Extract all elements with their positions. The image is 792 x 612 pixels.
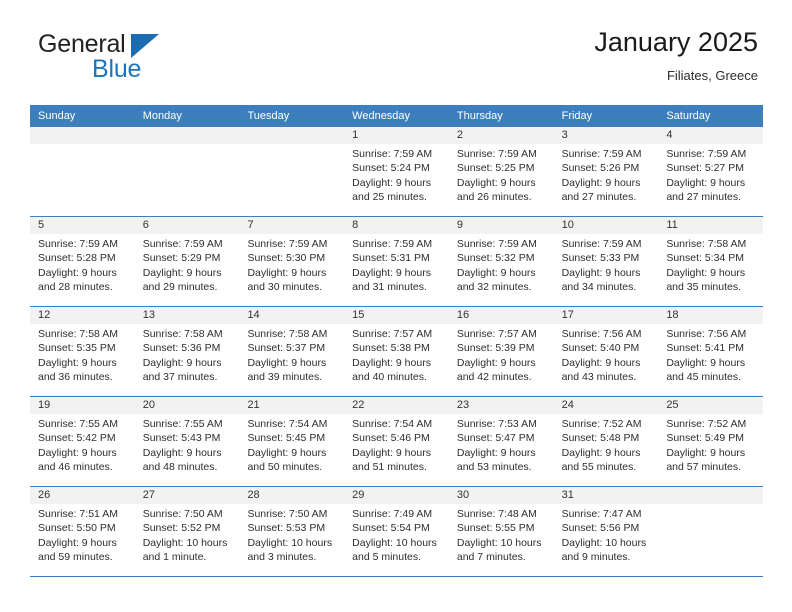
day-daylight2-line: and 34 minutes. bbox=[562, 280, 651, 294]
day-sunset-line: Sunset: 5:56 PM bbox=[562, 521, 651, 535]
day-number: 26 bbox=[30, 487, 135, 504]
day-daylight1-line: Daylight: 9 hours bbox=[457, 356, 546, 370]
day-cell[interactable]: 15Sunrise: 7:57 AMSunset: 5:38 PMDayligh… bbox=[344, 307, 449, 396]
day-daylight2-line: and 45 minutes. bbox=[666, 370, 755, 384]
day-daylight2-line: and 37 minutes. bbox=[143, 370, 232, 384]
day-daylight1-line: Daylight: 9 hours bbox=[352, 446, 441, 460]
day-daylight1-line: Daylight: 9 hours bbox=[352, 176, 441, 190]
day-cell[interactable]: 19Sunrise: 7:55 AMSunset: 5:42 PMDayligh… bbox=[30, 397, 135, 486]
day-number: 16 bbox=[449, 307, 554, 324]
day-number: 1 bbox=[344, 127, 449, 144]
day-sunrise-line: Sunrise: 7:59 AM bbox=[143, 237, 232, 251]
day-daylight1-line: Daylight: 9 hours bbox=[457, 446, 546, 460]
day-sun-info: Sunrise: 7:52 AMSunset: 5:49 PMDaylight:… bbox=[658, 414, 763, 475]
day-cell[interactable]: 22Sunrise: 7:54 AMSunset: 5:46 PMDayligh… bbox=[344, 397, 449, 486]
day-daylight2-line: and 30 minutes. bbox=[247, 280, 336, 294]
day-sunset-line: Sunset: 5:26 PM bbox=[562, 161, 651, 175]
day-sunrise-line: Sunrise: 7:59 AM bbox=[38, 237, 127, 251]
day-sun-info: Sunrise: 7:54 AMSunset: 5:45 PMDaylight:… bbox=[239, 414, 344, 475]
day-cell[interactable]: 8Sunrise: 7:59 AMSunset: 5:31 PMDaylight… bbox=[344, 217, 449, 306]
page-header: General Blue January 2025 Filiates, Gree… bbox=[34, 26, 758, 100]
day-daylight2-line: and 9 minutes. bbox=[562, 550, 651, 564]
weekday-header-tuesday: Tuesday bbox=[239, 105, 344, 127]
day-cell[interactable]: 6Sunrise: 7:59 AMSunset: 5:29 PMDaylight… bbox=[135, 217, 240, 306]
day-sun-info: Sunrise: 7:59 AMSunset: 5:32 PMDaylight:… bbox=[449, 234, 554, 295]
day-sunrise-line: Sunrise: 7:56 AM bbox=[562, 327, 651, 341]
day-sunset-line: Sunset: 5:30 PM bbox=[247, 251, 336, 265]
day-sunrise-line: Sunrise: 7:57 AM bbox=[352, 327, 441, 341]
day-number: 11 bbox=[658, 217, 763, 234]
calendar-weeks: 1Sunrise: 7:59 AMSunset: 5:24 PMDaylight… bbox=[30, 127, 763, 577]
day-daylight2-line: and 7 minutes. bbox=[457, 550, 546, 564]
day-number bbox=[135, 127, 240, 144]
day-daylight2-line: and 27 minutes. bbox=[562, 190, 651, 204]
day-number: 23 bbox=[449, 397, 554, 414]
day-number: 29 bbox=[344, 487, 449, 504]
day-daylight1-line: Daylight: 10 hours bbox=[143, 536, 232, 550]
day-sunset-line: Sunset: 5:38 PM bbox=[352, 341, 441, 355]
day-sunrise-line: Sunrise: 7:57 AM bbox=[457, 327, 546, 341]
day-sun-info: Sunrise: 7:50 AMSunset: 5:52 PMDaylight:… bbox=[135, 504, 240, 565]
day-sunset-line: Sunset: 5:50 PM bbox=[38, 521, 127, 535]
day-daylight1-line: Daylight: 9 hours bbox=[562, 176, 651, 190]
day-sunset-line: Sunset: 5:41 PM bbox=[666, 341, 755, 355]
day-sun-info: Sunrise: 7:49 AMSunset: 5:54 PMDaylight:… bbox=[344, 504, 449, 565]
day-sunset-line: Sunset: 5:45 PM bbox=[247, 431, 336, 445]
day-daylight1-line: Daylight: 9 hours bbox=[666, 266, 755, 280]
day-number: 31 bbox=[554, 487, 659, 504]
calendar-week-row: 1Sunrise: 7:59 AMSunset: 5:24 PMDaylight… bbox=[30, 127, 763, 217]
day-sunset-line: Sunset: 5:25 PM bbox=[457, 161, 546, 175]
day-daylight2-line: and 51 minutes. bbox=[352, 460, 441, 474]
day-daylight2-line: and 1 minute. bbox=[143, 550, 232, 564]
day-daylight2-line: and 43 minutes. bbox=[562, 370, 651, 384]
day-sunset-line: Sunset: 5:46 PM bbox=[352, 431, 441, 445]
day-sunset-line: Sunset: 5:27 PM bbox=[666, 161, 755, 175]
day-daylight2-line: and 29 minutes. bbox=[143, 280, 232, 294]
day-sunset-line: Sunset: 5:40 PM bbox=[562, 341, 651, 355]
day-daylight2-line: and 32 minutes. bbox=[457, 280, 546, 294]
day-number: 8 bbox=[344, 217, 449, 234]
weekday-header-sunday: Sunday bbox=[30, 105, 135, 127]
day-number: 7 bbox=[239, 217, 344, 234]
day-daylight2-line: and 55 minutes. bbox=[562, 460, 651, 474]
day-sun-info: Sunrise: 7:53 AMSunset: 5:47 PMDaylight:… bbox=[449, 414, 554, 475]
day-sun-info: Sunrise: 7:59 AMSunset: 5:27 PMDaylight:… bbox=[658, 144, 763, 205]
logo-text-general: General bbox=[38, 30, 126, 58]
day-daylight1-line: Daylight: 9 hours bbox=[457, 266, 546, 280]
calendar-page: General Blue January 2025 Filiates, Gree… bbox=[0, 0, 792, 612]
day-sunset-line: Sunset: 5:28 PM bbox=[38, 251, 127, 265]
day-daylight1-line: Daylight: 9 hours bbox=[352, 266, 441, 280]
day-cell[interactable]: 26Sunrise: 7:51 AMSunset: 5:50 PMDayligh… bbox=[30, 487, 135, 576]
weekday-header-saturday: Saturday bbox=[658, 105, 763, 127]
day-sun-info: Sunrise: 7:55 AMSunset: 5:42 PMDaylight:… bbox=[30, 414, 135, 475]
page-title: January 2025 bbox=[594, 26, 758, 59]
day-number: 15 bbox=[344, 307, 449, 324]
day-daylight2-line: and 42 minutes. bbox=[457, 370, 546, 384]
day-daylight1-line: Daylight: 9 hours bbox=[247, 266, 336, 280]
weekday-header-row: SundayMondayTuesdayWednesdayThursdayFrid… bbox=[30, 105, 763, 127]
day-cell[interactable]: 28Sunrise: 7:50 AMSunset: 5:53 PMDayligh… bbox=[239, 487, 344, 576]
day-cell-empty bbox=[658, 487, 763, 576]
day-sunrise-line: Sunrise: 7:48 AM bbox=[457, 507, 546, 521]
day-daylight1-line: Daylight: 9 hours bbox=[247, 446, 336, 460]
day-sunrise-line: Sunrise: 7:59 AM bbox=[562, 147, 651, 161]
day-sun-info: Sunrise: 7:56 AMSunset: 5:41 PMDaylight:… bbox=[658, 324, 763, 385]
day-number: 30 bbox=[449, 487, 554, 504]
day-cell[interactable]: 29Sunrise: 7:49 AMSunset: 5:54 PMDayligh… bbox=[344, 487, 449, 576]
day-number bbox=[30, 127, 135, 144]
day-cell[interactable]: 7Sunrise: 7:59 AMSunset: 5:30 PMDaylight… bbox=[239, 217, 344, 306]
day-sunset-line: Sunset: 5:35 PM bbox=[38, 341, 127, 355]
day-cell[interactable]: 17Sunrise: 7:56 AMSunset: 5:40 PMDayligh… bbox=[554, 307, 659, 396]
day-sunrise-line: Sunrise: 7:51 AM bbox=[38, 507, 127, 521]
day-cell[interactable]: 12Sunrise: 7:58 AMSunset: 5:35 PMDayligh… bbox=[30, 307, 135, 396]
calendar-week-row: 12Sunrise: 7:58 AMSunset: 5:35 PMDayligh… bbox=[30, 307, 763, 397]
day-number: 24 bbox=[554, 397, 659, 414]
day-sun-info: Sunrise: 7:59 AMSunset: 5:33 PMDaylight:… bbox=[554, 234, 659, 295]
day-daylight2-line: and 46 minutes. bbox=[38, 460, 127, 474]
day-cell[interactable]: 5Sunrise: 7:59 AMSunset: 5:28 PMDaylight… bbox=[30, 217, 135, 306]
day-sun-info: Sunrise: 7:58 AMSunset: 5:37 PMDaylight:… bbox=[239, 324, 344, 385]
day-sunrise-line: Sunrise: 7:56 AM bbox=[666, 327, 755, 341]
day-sun-info: Sunrise: 7:58 AMSunset: 5:36 PMDaylight:… bbox=[135, 324, 240, 385]
day-daylight2-line: and 27 minutes. bbox=[666, 190, 755, 204]
day-number: 4 bbox=[658, 127, 763, 144]
day-sun-info: Sunrise: 7:55 AMSunset: 5:43 PMDaylight:… bbox=[135, 414, 240, 475]
day-sunrise-line: Sunrise: 7:58 AM bbox=[666, 237, 755, 251]
day-sunrise-line: Sunrise: 7:55 AM bbox=[38, 417, 127, 431]
day-sunrise-line: Sunrise: 7:59 AM bbox=[666, 147, 755, 161]
day-sun-info: Sunrise: 7:57 AMSunset: 5:39 PMDaylight:… bbox=[449, 324, 554, 385]
day-daylight2-line: and 25 minutes. bbox=[352, 190, 441, 204]
day-sun-info: Sunrise: 7:47 AMSunset: 5:56 PMDaylight:… bbox=[554, 504, 659, 565]
day-number: 25 bbox=[658, 397, 763, 414]
day-sunrise-line: Sunrise: 7:58 AM bbox=[143, 327, 232, 341]
day-sunrise-line: Sunrise: 7:52 AM bbox=[562, 417, 651, 431]
day-daylight1-line: Daylight: 9 hours bbox=[143, 446, 232, 460]
day-sun-info: Sunrise: 7:51 AMSunset: 5:50 PMDaylight:… bbox=[30, 504, 135, 565]
day-daylight2-line: and 48 minutes. bbox=[143, 460, 232, 474]
day-sunrise-line: Sunrise: 7:50 AM bbox=[143, 507, 232, 521]
day-daylight1-line: Daylight: 9 hours bbox=[247, 356, 336, 370]
day-sun-info: Sunrise: 7:59 AMSunset: 5:24 PMDaylight:… bbox=[344, 144, 449, 205]
weekday-header-thursday: Thursday bbox=[449, 105, 554, 127]
day-cell[interactable]: 23Sunrise: 7:53 AMSunset: 5:47 PMDayligh… bbox=[449, 397, 554, 486]
day-cell[interactable]: 11Sunrise: 7:58 AMSunset: 5:34 PMDayligh… bbox=[658, 217, 763, 306]
day-sunset-line: Sunset: 5:32 PM bbox=[457, 251, 546, 265]
calendar-week-row: 26Sunrise: 7:51 AMSunset: 5:50 PMDayligh… bbox=[30, 487, 763, 577]
day-sun-info: Sunrise: 7:57 AMSunset: 5:38 PMDaylight:… bbox=[344, 324, 449, 385]
day-cell[interactable]: 18Sunrise: 7:56 AMSunset: 5:41 PMDayligh… bbox=[658, 307, 763, 396]
day-daylight2-line: and 50 minutes. bbox=[247, 460, 336, 474]
logo-text-blue: Blue bbox=[92, 55, 141, 83]
day-cell[interactable]: 25Sunrise: 7:52 AMSunset: 5:49 PMDayligh… bbox=[658, 397, 763, 486]
calendar-grid: SundayMondayTuesdayWednesdayThursdayFrid… bbox=[30, 105, 763, 577]
day-number: 17 bbox=[554, 307, 659, 324]
day-number: 19 bbox=[30, 397, 135, 414]
day-sunrise-line: Sunrise: 7:58 AM bbox=[247, 327, 336, 341]
day-sunrise-line: Sunrise: 7:54 AM bbox=[352, 417, 441, 431]
day-sunset-line: Sunset: 5:48 PM bbox=[562, 431, 651, 445]
day-sunset-line: Sunset: 5:52 PM bbox=[143, 521, 232, 535]
day-sunrise-line: Sunrise: 7:59 AM bbox=[457, 147, 546, 161]
day-number: 27 bbox=[135, 487, 240, 504]
day-sunset-line: Sunset: 5:33 PM bbox=[562, 251, 651, 265]
day-sunrise-line: Sunrise: 7:50 AM bbox=[247, 507, 336, 521]
title-block: January 2025 Filiates, Greece bbox=[594, 26, 758, 85]
day-daylight2-line: and 5 minutes. bbox=[352, 550, 441, 564]
day-number: 12 bbox=[30, 307, 135, 324]
day-sun-info: Sunrise: 7:59 AMSunset: 5:30 PMDaylight:… bbox=[239, 234, 344, 295]
day-number: 14 bbox=[239, 307, 344, 324]
day-cell[interactable]: 4Sunrise: 7:59 AMSunset: 5:27 PMDaylight… bbox=[658, 127, 763, 216]
day-sunset-line: Sunset: 5:54 PM bbox=[352, 521, 441, 535]
day-daylight1-line: Daylight: 10 hours bbox=[457, 536, 546, 550]
day-daylight1-line: Daylight: 9 hours bbox=[38, 446, 127, 460]
day-daylight2-line: and 3 minutes. bbox=[247, 550, 336, 564]
location-subtitle: Filiates, Greece bbox=[594, 67, 758, 85]
general-blue-logo[interactable]: General Blue bbox=[34, 26, 254, 92]
day-sun-info: Sunrise: 7:56 AMSunset: 5:40 PMDaylight:… bbox=[554, 324, 659, 385]
day-number: 9 bbox=[449, 217, 554, 234]
day-number: 28 bbox=[239, 487, 344, 504]
day-daylight1-line: Daylight: 9 hours bbox=[38, 356, 127, 370]
day-cell[interactable]: 14Sunrise: 7:58 AMSunset: 5:37 PMDayligh… bbox=[239, 307, 344, 396]
day-number: 22 bbox=[344, 397, 449, 414]
day-cell[interactable]: 30Sunrise: 7:48 AMSunset: 5:55 PMDayligh… bbox=[449, 487, 554, 576]
day-daylight2-line: and 59 minutes. bbox=[38, 550, 127, 564]
day-daylight1-line: Daylight: 9 hours bbox=[666, 356, 755, 370]
day-sunrise-line: Sunrise: 7:53 AM bbox=[457, 417, 546, 431]
day-sunrise-line: Sunrise: 7:49 AM bbox=[352, 507, 441, 521]
day-sunrise-line: Sunrise: 7:58 AM bbox=[38, 327, 127, 341]
day-number: 20 bbox=[135, 397, 240, 414]
day-daylight1-line: Daylight: 9 hours bbox=[38, 266, 127, 280]
day-number: 6 bbox=[135, 217, 240, 234]
day-sun-info: Sunrise: 7:59 AMSunset: 5:29 PMDaylight:… bbox=[135, 234, 240, 295]
day-daylight1-line: Daylight: 9 hours bbox=[666, 446, 755, 460]
day-sunrise-line: Sunrise: 7:59 AM bbox=[457, 237, 546, 251]
day-daylight1-line: Daylight: 9 hours bbox=[666, 176, 755, 190]
day-sunset-line: Sunset: 5:55 PM bbox=[457, 521, 546, 535]
day-cell[interactable]: 10Sunrise: 7:59 AMSunset: 5:33 PMDayligh… bbox=[554, 217, 659, 306]
day-cell-empty bbox=[135, 127, 240, 216]
day-sun-info: Sunrise: 7:59 AMSunset: 5:31 PMDaylight:… bbox=[344, 234, 449, 295]
day-sun-info: Sunrise: 7:58 AMSunset: 5:35 PMDaylight:… bbox=[30, 324, 135, 385]
day-sun-info: Sunrise: 7:48 AMSunset: 5:55 PMDaylight:… bbox=[449, 504, 554, 565]
day-cell[interactable]: 24Sunrise: 7:52 AMSunset: 5:48 PMDayligh… bbox=[554, 397, 659, 486]
day-daylight1-line: Daylight: 9 hours bbox=[562, 356, 651, 370]
day-daylight2-line: and 28 minutes. bbox=[38, 280, 127, 294]
day-cell-empty bbox=[30, 127, 135, 216]
day-number bbox=[239, 127, 344, 144]
day-number: 10 bbox=[554, 217, 659, 234]
day-daylight1-line: Daylight: 9 hours bbox=[562, 446, 651, 460]
day-daylight2-line: and 40 minutes. bbox=[352, 370, 441, 384]
day-sunset-line: Sunset: 5:47 PM bbox=[457, 431, 546, 445]
day-sun-info: Sunrise: 7:58 AMSunset: 5:34 PMDaylight:… bbox=[658, 234, 763, 295]
day-sun-info: Sunrise: 7:50 AMSunset: 5:53 PMDaylight:… bbox=[239, 504, 344, 565]
day-cell[interactable]: 3Sunrise: 7:59 AMSunset: 5:26 PMDaylight… bbox=[554, 127, 659, 216]
day-daylight2-line: and 35 minutes. bbox=[666, 280, 755, 294]
day-sunrise-line: Sunrise: 7:54 AM bbox=[247, 417, 336, 431]
day-number: 2 bbox=[449, 127, 554, 144]
day-cell[interactable]: 9Sunrise: 7:59 AMSunset: 5:32 PMDaylight… bbox=[449, 217, 554, 306]
day-daylight1-line: Daylight: 9 hours bbox=[352, 356, 441, 370]
day-cell[interactable]: 13Sunrise: 7:58 AMSunset: 5:36 PMDayligh… bbox=[135, 307, 240, 396]
day-daylight1-line: Daylight: 9 hours bbox=[143, 266, 232, 280]
day-daylight1-line: Daylight: 9 hours bbox=[143, 356, 232, 370]
day-sun-info: Sunrise: 7:59 AMSunset: 5:25 PMDaylight:… bbox=[449, 144, 554, 205]
day-daylight1-line: Daylight: 10 hours bbox=[352, 536, 441, 550]
calendar-week-row: 19Sunrise: 7:55 AMSunset: 5:42 PMDayligh… bbox=[30, 397, 763, 487]
day-cell[interactable]: 31Sunrise: 7:47 AMSunset: 5:56 PMDayligh… bbox=[554, 487, 659, 576]
day-cell[interactable]: 21Sunrise: 7:54 AMSunset: 5:45 PMDayligh… bbox=[239, 397, 344, 486]
day-number: 21 bbox=[239, 397, 344, 414]
day-sunset-line: Sunset: 5:39 PM bbox=[457, 341, 546, 355]
day-sunrise-line: Sunrise: 7:59 AM bbox=[247, 237, 336, 251]
day-sunset-line: Sunset: 5:34 PM bbox=[666, 251, 755, 265]
day-number: 3 bbox=[554, 127, 659, 144]
day-sun-info: Sunrise: 7:54 AMSunset: 5:46 PMDaylight:… bbox=[344, 414, 449, 475]
day-sunrise-line: Sunrise: 7:59 AM bbox=[352, 237, 441, 251]
weekday-header-wednesday: Wednesday bbox=[344, 105, 449, 127]
day-sunset-line: Sunset: 5:49 PM bbox=[666, 431, 755, 445]
weekday-header-friday: Friday bbox=[554, 105, 659, 127]
day-number: 18 bbox=[658, 307, 763, 324]
day-sun-info: Sunrise: 7:59 AMSunset: 5:26 PMDaylight:… bbox=[554, 144, 659, 205]
day-sunset-line: Sunset: 5:53 PM bbox=[247, 521, 336, 535]
day-sunset-line: Sunset: 5:29 PM bbox=[143, 251, 232, 265]
day-number: 5 bbox=[30, 217, 135, 234]
day-daylight2-line: and 26 minutes. bbox=[457, 190, 546, 204]
day-daylight1-line: Daylight: 10 hours bbox=[562, 536, 651, 550]
day-sunset-line: Sunset: 5:24 PM bbox=[352, 161, 441, 175]
day-daylight1-line: Daylight: 10 hours bbox=[247, 536, 336, 550]
day-sunrise-line: Sunrise: 7:52 AM bbox=[666, 417, 755, 431]
day-cell[interactable]: 1Sunrise: 7:59 AMSunset: 5:24 PMDaylight… bbox=[344, 127, 449, 216]
day-cell[interactable]: 16Sunrise: 7:57 AMSunset: 5:39 PMDayligh… bbox=[449, 307, 554, 396]
day-number bbox=[658, 487, 763, 504]
day-sunset-line: Sunset: 5:31 PM bbox=[352, 251, 441, 265]
day-cell[interactable]: 20Sunrise: 7:55 AMSunset: 5:43 PMDayligh… bbox=[135, 397, 240, 486]
day-cell[interactable]: 2Sunrise: 7:59 AMSunset: 5:25 PMDaylight… bbox=[449, 127, 554, 216]
day-sunrise-line: Sunrise: 7:47 AM bbox=[562, 507, 651, 521]
day-sunset-line: Sunset: 5:43 PM bbox=[143, 431, 232, 445]
day-daylight2-line: and 36 minutes. bbox=[38, 370, 127, 384]
day-daylight2-line: and 53 minutes. bbox=[457, 460, 546, 474]
day-sun-info: Sunrise: 7:59 AMSunset: 5:28 PMDaylight:… bbox=[30, 234, 135, 295]
day-daylight1-line: Daylight: 9 hours bbox=[38, 536, 127, 550]
day-daylight1-line: Daylight: 9 hours bbox=[457, 176, 546, 190]
day-sunset-line: Sunset: 5:37 PM bbox=[247, 341, 336, 355]
day-daylight2-line: and 31 minutes. bbox=[352, 280, 441, 294]
day-sunrise-line: Sunrise: 7:59 AM bbox=[562, 237, 651, 251]
day-cell[interactable]: 27Sunrise: 7:50 AMSunset: 5:52 PMDayligh… bbox=[135, 487, 240, 576]
calendar-week-row: 5Sunrise: 7:59 AMSunset: 5:28 PMDaylight… bbox=[30, 217, 763, 307]
day-daylight2-line: and 57 minutes. bbox=[666, 460, 755, 474]
day-number: 13 bbox=[135, 307, 240, 324]
day-daylight1-line: Daylight: 9 hours bbox=[562, 266, 651, 280]
day-sunset-line: Sunset: 5:42 PM bbox=[38, 431, 127, 445]
day-cell-empty bbox=[239, 127, 344, 216]
day-daylight2-line: and 39 minutes. bbox=[247, 370, 336, 384]
day-sunset-line: Sunset: 5:36 PM bbox=[143, 341, 232, 355]
weekday-header-monday: Monday bbox=[135, 105, 240, 127]
day-sun-info: Sunrise: 7:52 AMSunset: 5:48 PMDaylight:… bbox=[554, 414, 659, 475]
day-sunrise-line: Sunrise: 7:59 AM bbox=[352, 147, 441, 161]
day-sunrise-line: Sunrise: 7:55 AM bbox=[143, 417, 232, 431]
